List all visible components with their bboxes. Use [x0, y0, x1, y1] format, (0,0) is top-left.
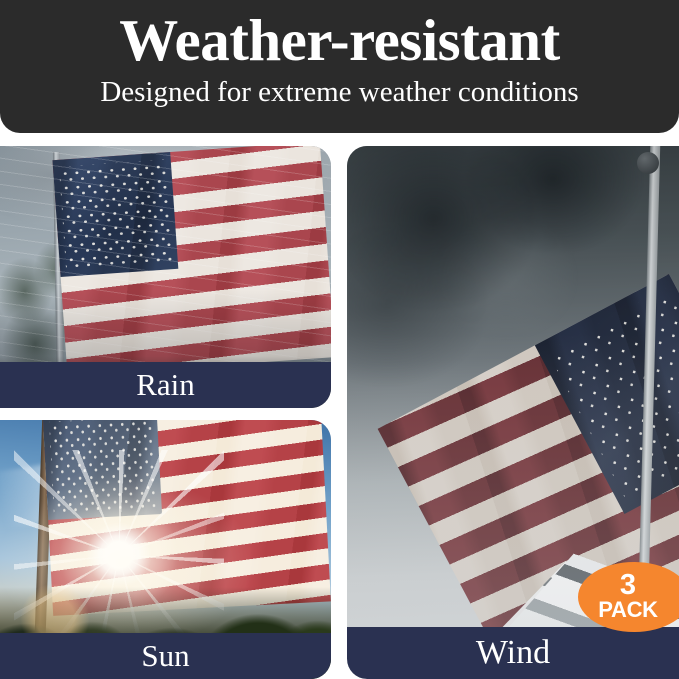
caption-bar-rain: Rain: [0, 362, 331, 408]
page-subtitle: Designed for extreme weather conditions: [100, 74, 578, 110]
pack-count-number: 3: [620, 573, 636, 598]
feature-card-rain[interactable]: Rain: [0, 146, 331, 408]
product-feature-image: Weather-resistant Designed for extreme w…: [0, 0, 679, 679]
pack-count-badge: 3 PACK: [578, 562, 679, 632]
pack-count-word: PACK: [598, 598, 658, 621]
page-title: Weather-resistant: [119, 6, 559, 74]
header-banner: Weather-resistant Designed for extreme w…: [0, 0, 679, 133]
caption-label-rain: Rain: [136, 368, 195, 402]
caption-bar-wind: Wind: [347, 627, 679, 679]
caption-bar-sun: Sun: [0, 633, 331, 679]
feature-card-sun[interactable]: Sun: [0, 420, 331, 679]
caption-label-wind: Wind: [476, 636, 550, 670]
caption-label-sun: Sun: [141, 639, 189, 673]
